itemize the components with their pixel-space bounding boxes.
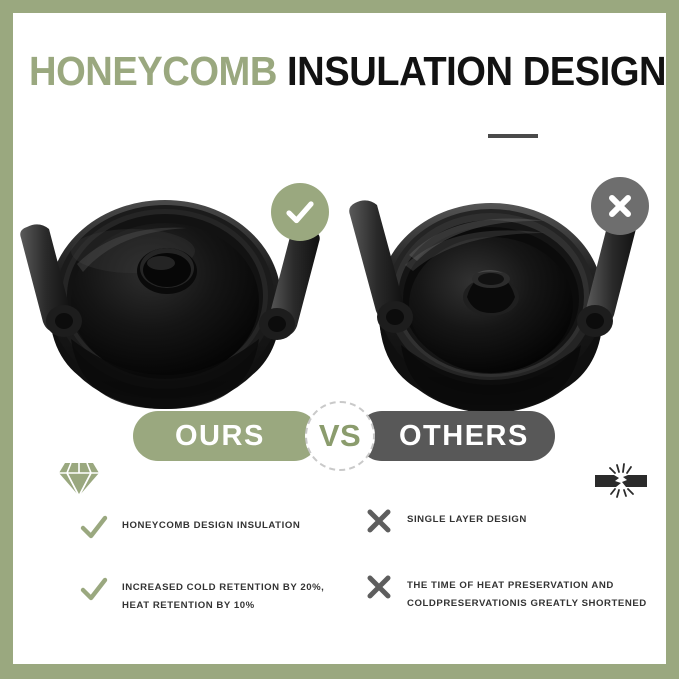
feature-line: INCREASED COLD RETENTION BY 20%, [122,579,324,597]
ours-pill: OURS [133,411,319,461]
feature-ours-2: INCREASED COLD RETENTION BY 20%, HEAT RE… [78,579,324,614]
others-product-photo [339,169,653,414]
feature-line: HEAT RETENTION BY 10% [122,597,324,615]
infographic-canvas: HONEYCOMB INSULATION DESIGN [13,13,666,664]
feature-ours-1: HONEYCOMB DESIGN INSULATION [78,517,300,543]
check-mark-icon [78,573,110,605]
feature-others-2: THE TIME OF HEAT PRESERVATION AND COLDPR… [363,577,647,612]
feature-others-1-text: SINGLE LAYER DESIGN [407,511,527,529]
feature-line: COLDPRESERVATIONIS GREATLY SHORTENED [407,595,647,613]
x-circle-icon [591,177,649,235]
infographic-frame: HONEYCOMB INSULATION DESIGN [0,0,679,679]
title-rest: INSULATION DESIGN [277,48,666,94]
x-mark-icon [363,505,395,537]
ours-label: OURS [175,420,265,453]
check-mark-icon [78,511,110,543]
vs-label: VS [319,418,361,454]
feature-line: SINGLE LAYER DESIGN [407,511,527,529]
horizontal-dash-icon [488,134,538,138]
comparison-bar: OURS OTHERS VS [13,405,666,467]
feature-others-2-text: THE TIME OF HEAT PRESERVATION AND COLDPR… [407,577,647,612]
x-mark-icon [363,571,395,603]
others-label: OTHERS [399,420,529,453]
check-glyph [283,195,317,229]
feature-ours-2-text: INCREASED COLD RETENTION BY 20%, HEAT RE… [122,579,324,614]
feature-line: HONEYCOMB DESIGN INSULATION [122,517,300,535]
shatter-break-icon [593,463,649,499]
feature-ours-1-text: HONEYCOMB DESIGN INSULATION [122,517,300,535]
feature-others-1: SINGLE LAYER DESIGN [363,511,527,537]
page-title: HONEYCOMB INSULATION DESIGN [29,51,610,92]
feature-line: THE TIME OF HEAT PRESERVATION AND [407,577,647,595]
check-circle-icon [271,183,329,241]
ours-product-photo [15,169,329,414]
x-glyph [604,190,636,222]
others-pill: OTHERS [357,411,555,461]
vs-badge: VS [305,401,375,471]
title-highlight: HONEYCOMB [29,48,277,94]
